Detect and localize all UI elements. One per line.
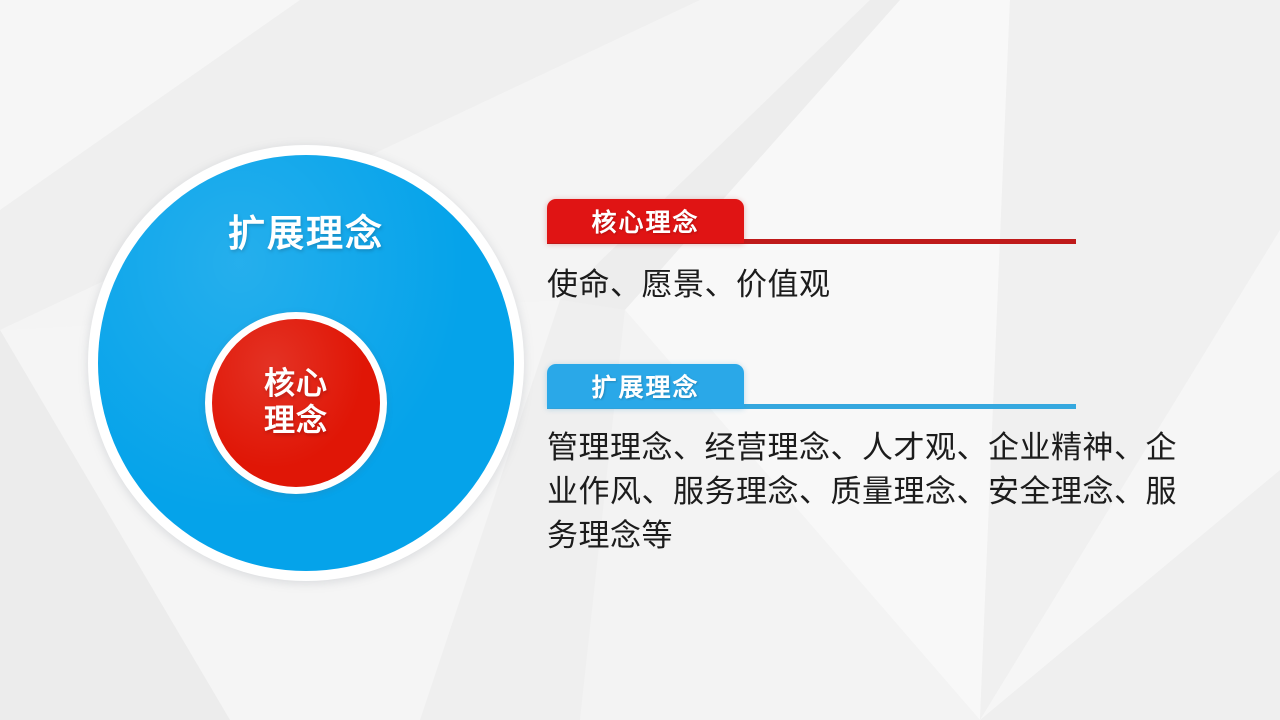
inner-circle-label-line1: 核心 [264,366,328,403]
inner-circle-ring: 核心 理念 [205,312,387,494]
inner-circle-label: 核心 理念 [212,319,380,487]
inner-circle-label-line2: 理念 [264,403,328,440]
badge-row-core: 核心理念 [547,199,1187,247]
content-block-core-concept: 核心理念 使命、愿景、价值观 [547,199,1187,307]
concentric-circle-diagram: 扩展理念 核心 理念 [88,145,524,581]
slide-canvas: 扩展理念 核心 理念 核心理念 使命、愿景、价值观 扩展理念 管理理念、经营理念… [0,0,1280,720]
badge-core-concept[interactable]: 核心理念 [547,199,744,243]
body-text-core-concept: 使命、愿景、价值观 [547,263,1179,307]
content-block-extended-concept: 扩展理念 管理理念、经营理念、人才观、企业精神、企业作风、服务理念、质量理念、安… [547,364,1187,558]
badge-row-extended: 扩展理念 [547,364,1187,412]
outer-circle-label: 扩展理念 [98,203,514,257]
body-text-extended-concept: 管理理念、经营理念、人才观、企业精神、企业作风、服务理念、质量理念、安全理念、服… [547,426,1179,558]
inner-circle-core-concept[interactable]: 核心 理念 [212,319,380,487]
badge-extended-concept[interactable]: 扩展理念 [547,364,744,408]
